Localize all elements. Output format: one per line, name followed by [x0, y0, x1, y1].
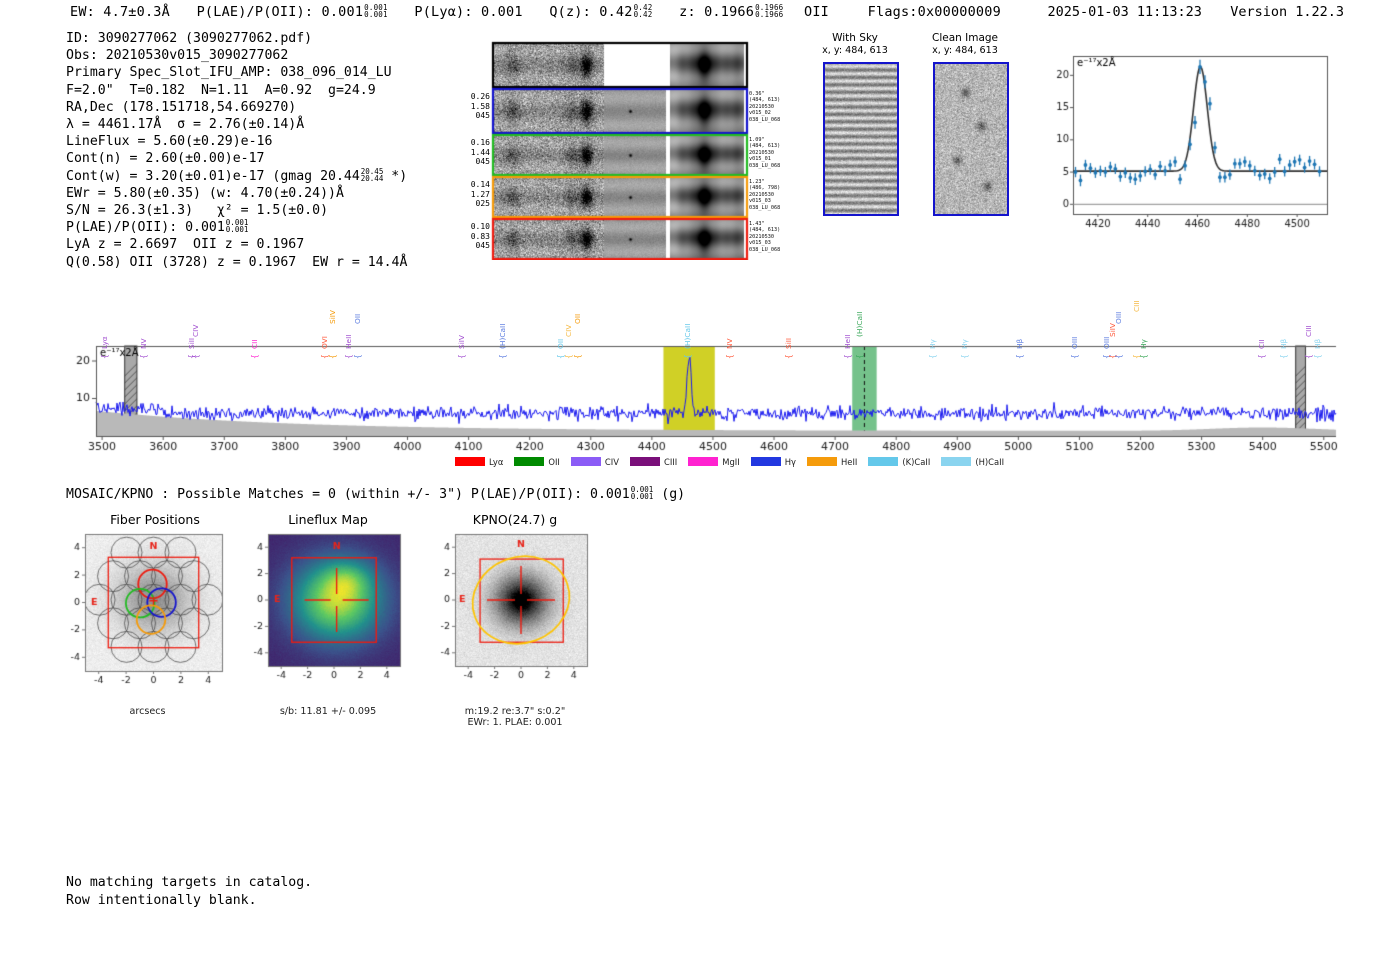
spectral-line-brace-21: {: [1015, 354, 1024, 359]
info-redshifts: LyA z = 2.6697 OII z = 0.1967: [66, 236, 407, 253]
spectral-line-label-Ly-0: Lyα: [100, 336, 109, 349]
kpno-canvas: [425, 530, 605, 705]
spectral-line-brace-4: {: [250, 354, 259, 359]
spectral-line-brace-9: {: [457, 354, 466, 359]
spectral-line-labels: Lyα{NV{SiII{CIV{CII{OVI{SiIV{HeII{OII{Si…: [0, 268, 1400, 358]
spec2d-row3-stat1: 1.27: [460, 190, 490, 200]
spectral-line-brace-28: {: [1257, 354, 1266, 359]
footer-note: No matching targets in catalog. Row inte…: [66, 874, 312, 909]
header-z: z: 0.1966: [679, 4, 754, 20]
spectral-line-label-HCaII-10: (H)CaII: [498, 324, 507, 349]
panel-xlabel-fiber: arcsecs: [55, 706, 240, 717]
cutout-title-clean: Clean Image: [915, 32, 1015, 44]
spectral-line-label-H-21: Hβ: [1015, 339, 1024, 349]
spectral-line-brace-8: {: [353, 354, 362, 359]
header-version: Version 1.22.3: [1230, 4, 1344, 20]
spectral-line-brace-20: {: [960, 354, 969, 359]
emission-line-canvas: [1035, 42, 1335, 257]
legend-swatch-6: [807, 457, 837, 466]
spectral-line-label-CIV-3: CIV: [191, 324, 200, 336]
spec2d-row3-meta4: 038_LU_068: [749, 205, 780, 211]
legend-label-5: Hγ: [785, 457, 796, 467]
spectral-line-label-CII-4: CII: [250, 339, 259, 349]
legend-label-4: MgII: [722, 457, 739, 467]
spectral-line-brace-1: {: [139, 354, 148, 359]
spec2d-row3-stat0: 0.14: [460, 180, 490, 190]
spectral-line-brace-10: {: [498, 354, 507, 359]
cutout-title-with-sky: With Sky: [805, 32, 905, 44]
spec2d-row2-stat1: 1.44: [460, 148, 490, 158]
spectral-line-label-H-20: Hγ: [960, 339, 969, 349]
spec2d-row2-meta4: 038_LU_068: [749, 163, 780, 169]
full-spectrum-panel: Lyα{NV{SiII{CIV{CII{OVI{SiIV{HeII{OII{Si…: [0, 268, 1400, 473]
header-plya: P(Lyα): 0.001: [414, 4, 522, 20]
spectral-line-brace-30: {: [1304, 354, 1313, 359]
panel-lineflux-map: Lineflux Map s/b: 11.81 +/- 0.095: [238, 512, 428, 717]
legend-swatch-7: [868, 457, 898, 466]
spectral-line-label-HeII-7: HeII: [344, 335, 353, 349]
header-timestamp-version: 2025-01-03 11:13:23 Version 1.22.3: [1047, 4, 1344, 20]
spectral-line-label-SiIV-9: SiIV: [457, 335, 466, 349]
spectral-line-brace-6: {: [328, 354, 337, 359]
info-seeing: F=2.0" T=0.182 N=1.11 A=0.92 g=24.9: [66, 82, 407, 99]
legend-item-CIV: CIV: [571, 457, 619, 467]
spectral-line-label-OII-8: OII: [353, 314, 362, 324]
panel-title-fiber-positions: Fiber Positions: [55, 512, 255, 527]
spectral-line-label-HCaII-18: (H)CaII: [855, 311, 864, 336]
spectral-line-label-CIV-12: CIV: [564, 324, 573, 336]
legend-label-3: CIII: [664, 457, 677, 467]
spec2d-row4-stat2: 045: [460, 241, 490, 251]
legend-swatch-5: [751, 457, 781, 466]
legend-swatch-4: [688, 457, 718, 466]
spec2d-panel: 2D Spec Pixel Flat Smoothed Weighted Sum…: [460, 32, 790, 260]
legend-item-H: Hγ: [751, 457, 796, 467]
spectral-line-label-NV-15: NV: [725, 338, 734, 349]
panel-title-kpno: KPNO(24.7) g: [425, 512, 605, 527]
info-lambda-sigma: λ = 4461.17Å σ = 2.76(±0.14)Å: [66, 116, 407, 133]
spectral-line-brace-14: {: [683, 354, 692, 359]
spec2d-row2-stat0: 0.16: [460, 138, 490, 148]
panel-caption-kpno: m:19.2 re:3.7" s:0.2": [425, 706, 605, 717]
header-z-bounds: 0.19660.1966: [755, 4, 783, 18]
header-plae-poii-bounds: 0.0010.001: [364, 4, 388, 18]
spec2d-row1-stat1: 1.58: [460, 102, 490, 112]
spec2d-canvas: [460, 32, 790, 260]
info-id: ID: 3090277062 (3090277062.pdf): [66, 30, 407, 47]
spectral-line-label-H-27: Hγ: [1139, 339, 1148, 349]
legend-label-6: HeII: [841, 457, 857, 467]
header-qz: Q(z): 0.42: [549, 4, 632, 20]
info-obs: Obs: 20210530v015_3090277062: [66, 47, 407, 64]
header-summary-line: EW: 4.7±0.3Å P(LAE)/P(OII): 0.0010.0010.…: [70, 4, 1001, 20]
spectral-line-brace-18: {: [855, 354, 864, 359]
info-cont-w: Cont(w) = 3.20(±0.01)e-17 (gmag 20.4420.…: [66, 168, 407, 185]
spectral-line-label-HeII-17: HeII: [843, 335, 852, 349]
legend-label-1: OII: [548, 457, 560, 467]
spectral-line-label-OII-13: OII: [573, 314, 582, 324]
legend-label-7: (K)CaII: [902, 457, 930, 467]
legend-swatch-8: [941, 457, 971, 466]
legend-swatch-0: [455, 457, 485, 466]
mosaic-heading-text: MOSAIC/KPNO : Possible Matches = 0 (with…: [66, 487, 630, 502]
cutout-subtitle-clean: x, y: 484, 613: [915, 45, 1015, 56]
panel-caption2-kpno: EWr: 1. PLAE: 0.001: [425, 717, 605, 728]
spectral-line-brace-17: {: [843, 354, 852, 359]
spec2d-row1-meta4: 038_LU_068: [749, 117, 780, 123]
legend-swatch-1: [514, 457, 544, 466]
spec2d-row1-stat2: 045: [460, 111, 490, 121]
header-plae-poii: P(LAE)/P(OII): 0.001: [197, 4, 364, 20]
info-plae-bounds: 0.0010.001: [226, 219, 249, 233]
fiber-positions-canvas: [55, 530, 240, 705]
spec2d-row1-stat0: 0.26: [460, 92, 490, 102]
spectral-line-label-SiII-2: SiII: [187, 338, 196, 349]
info-plae-poii: P(LAE)/P(OII): 0.0010.0010.001: [66, 219, 407, 236]
header-qz-bounds: 0.420.42: [634, 4, 653, 18]
header-flags: Flags:0x00000009: [868, 4, 1001, 20]
panel-fiber-positions: Fiber Positions arcsecs: [55, 512, 255, 717]
legend-item-HCaII: (H)CaII: [941, 457, 1004, 467]
info-primary-spec: Primary Spec_Slot_IFU_AMP: 038_096_014_L…: [66, 64, 407, 81]
spectral-line-brace-13: {: [573, 354, 582, 359]
spectral-line-brace-19: {: [928, 354, 937, 359]
spectral-line-brace-12: {: [564, 354, 573, 359]
spectral-line-label-CIII-30: CIII: [1304, 325, 1313, 337]
spectral-line-label-CIII-26: CIII: [1132, 300, 1141, 312]
legend-label-0: Lyα: [489, 457, 503, 467]
panel-caption-lineflux: s/b: 11.81 +/- 0.095: [238, 706, 418, 717]
info-ewr: EWr = 5.80(±0.35) (w: 4.70(±0.24))Å: [66, 185, 407, 202]
spectral-line-label-CII-28: CII: [1257, 339, 1266, 349]
spectral-line-brace-15: {: [725, 354, 734, 359]
legend-item-MgII: MgII: [688, 457, 739, 467]
info-gmag-bounds: 20.4520.44: [361, 168, 384, 182]
legend-item-CIII: CIII: [630, 457, 677, 467]
spectral-line-label-OIII-23: OIII: [1102, 337, 1111, 349]
spectral-line-label-SiII-16: SiII: [784, 338, 793, 349]
lineflux-map-canvas: [238, 530, 418, 705]
info-lineflux: LineFlux = 5.60(±0.29)e-16: [66, 133, 407, 150]
spectral-line-label-SiIV-24: SiIV: [1108, 323, 1117, 337]
legend-item-KCaII: (K)CaII: [868, 457, 930, 467]
spectral-line-label-OIII-25: OIII: [1114, 312, 1123, 324]
mosaic-heading: MOSAIC/KPNO : Possible Matches = 0 (with…: [66, 486, 685, 502]
spectral-line-brace-25: {: [1114, 354, 1123, 359]
info-radec: RA,Dec (178.151718,54.669270): [66, 99, 407, 116]
spectral-line-label-H-29: Hβ: [1279, 339, 1288, 349]
spectral-line-brace-29: {: [1279, 354, 1288, 359]
legend-swatch-3: [630, 457, 660, 466]
legend-label-2: CIV: [605, 457, 619, 467]
spectral-line-brace-22: {: [1070, 354, 1079, 359]
source-info-block: ID: 3090277062 (3090277062.pdf) Obs: 202…: [66, 30, 407, 271]
spectral-line-label-HCaII-14: (H)CaII: [683, 324, 692, 349]
spectrum-legend: LyαOIICIVCIIIMgIIHγHeII(K)CaII(H)CaII: [455, 451, 1015, 470]
cutout-image-with-sky: [823, 62, 899, 216]
header-ew: EW: 4.7±0.3Å: [70, 4, 170, 20]
mosaic-plae-bounds: 0.0010.001: [631, 486, 654, 500]
spectral-line-brace-7: {: [344, 354, 353, 359]
legend-label-8: (H)CaII: [975, 457, 1004, 467]
legend-item-HeII: HeII: [807, 457, 857, 467]
spec2d-row2-stat2: 045: [460, 157, 490, 167]
spectral-line-brace-0: {: [100, 354, 109, 359]
info-cont-n: Cont(n) = 2.60(±0.00)e-17: [66, 150, 407, 167]
spectral-line-label-H-31: Hβ: [1313, 339, 1322, 349]
spectral-line-label-SiIV-6: SiIV: [328, 310, 337, 324]
spectral-line-label-OII-11: OII: [556, 339, 565, 349]
panel-title-lineflux-map: Lineflux Map: [238, 512, 418, 527]
spectral-line-brace-3: {: [191, 354, 200, 359]
info-sn-chi2: S/N = 26.3(±1.3) χ² = 1.5(±0.0): [66, 202, 407, 219]
spectral-line-brace-31: {: [1313, 354, 1322, 359]
spec2d-row4-stat1: 0.83: [460, 232, 490, 242]
spec2d-row4-stat0: 0.10: [460, 222, 490, 232]
spectral-line-brace-27: {: [1139, 354, 1148, 359]
header-z-species: OII: [804, 4, 829, 20]
spec2d-row3-stat2: 025: [460, 199, 490, 209]
spectral-line-brace-16: {: [784, 354, 793, 359]
header-datetime: 2025-01-03 11:13:23: [1047, 4, 1201, 20]
cutout-image-clean: [933, 62, 1009, 216]
legend-item-Ly: Lyα: [455, 457, 503, 467]
cutout-subtitle-with-sky: x, y: 484, 613: [805, 45, 905, 56]
panel-kpno-image: KPNO(24.7) g m:19.2 re:3.7" s:0.2" EWr: …: [425, 512, 615, 728]
spectral-line-label-NV-1: NV: [139, 338, 148, 349]
spectral-line-label-OVI-5: OVI: [320, 336, 329, 349]
spectral-line-label-OIII-22: OIII: [1070, 337, 1079, 349]
legend-swatch-2: [571, 457, 601, 466]
cutout-panel: With Sky x, y: 484, 613 Clean Image x, y…: [805, 32, 1020, 250]
emission-line-chart: [1035, 42, 1335, 257]
spec2d-row4-meta4: 038_LU_068: [749, 247, 780, 253]
legend-item-OII: OII: [514, 457, 560, 467]
spectral-line-label-H-19: Hγ: [928, 339, 937, 349]
mosaic-heading-filter: (g): [661, 487, 685, 502]
